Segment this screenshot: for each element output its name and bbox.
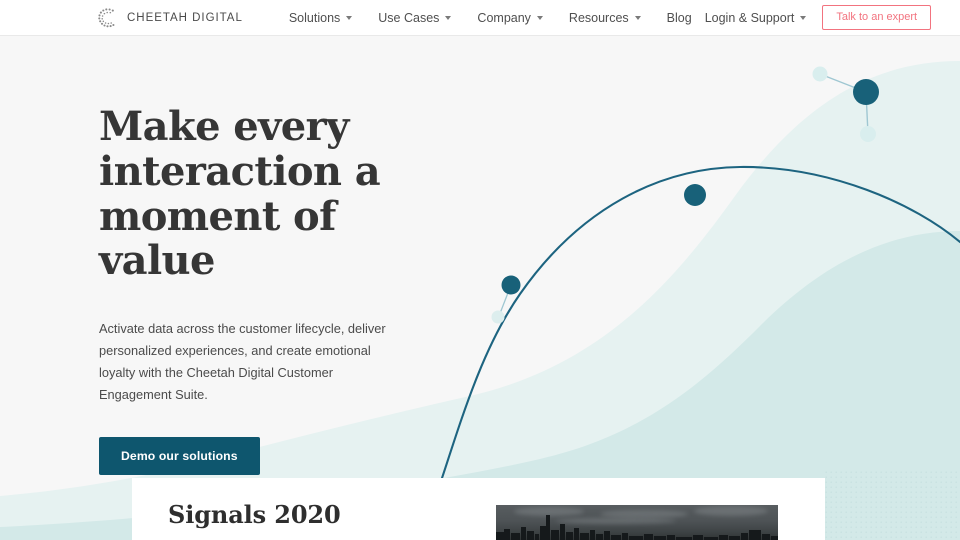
nav-label-solutions: Solutions xyxy=(289,11,340,25)
node-small-light-2 xyxy=(860,126,876,142)
chevron-down-icon xyxy=(537,16,543,20)
hero-subcopy: Activate data across the customer lifecy… xyxy=(99,318,389,406)
chevron-down-icon xyxy=(800,16,806,20)
page-root: CHEETAH DIGITAL Solutions Use Cases Comp… xyxy=(0,0,960,540)
dot-pattern-band xyxy=(822,468,960,540)
signals-card-title: Signals 2020 xyxy=(168,500,341,529)
chevron-down-icon xyxy=(445,16,451,20)
hero-section: Make every interaction a moment of value… xyxy=(99,105,519,475)
brand-name: CHEETAH DIGITAL xyxy=(127,12,243,24)
main-navigation: Solutions Use Cases Company Resources Bl… xyxy=(276,11,705,25)
chevron-down-icon xyxy=(346,16,352,20)
nav-item-login-support[interactable]: Login & Support xyxy=(705,11,807,25)
site-header: CHEETAH DIGITAL Solutions Use Cases Comp… xyxy=(0,0,960,36)
nav-label-blog: Blog xyxy=(667,11,692,25)
nav-label-use-cases: Use Cases xyxy=(378,11,439,25)
brand-logo[interactable]: CHEETAH DIGITAL xyxy=(97,7,243,29)
photo-cloud xyxy=(694,506,768,516)
city-skyline-photo xyxy=(496,505,778,540)
talk-to-an-expert-button[interactable]: Talk to an expert xyxy=(822,5,931,30)
photo-skyline xyxy=(496,524,778,540)
chevron-down-icon xyxy=(635,16,641,20)
nav-label-login-support: Login & Support xyxy=(705,11,795,25)
node-large-dark xyxy=(853,79,879,105)
demo-our-solutions-button[interactable]: Demo our solutions xyxy=(99,437,260,475)
signals-card[interactable]: Signals 2020 xyxy=(132,478,825,540)
node-on-arc xyxy=(684,184,706,206)
page-title: Make every interaction a moment of value xyxy=(99,105,459,284)
nav-item-blog[interactable]: Blog xyxy=(654,11,705,25)
header-right-actions: Login & Support Talk to an expert xyxy=(705,5,931,30)
node-small-light xyxy=(813,67,828,82)
nav-item-solutions[interactable]: Solutions xyxy=(276,11,365,25)
nav-label-resources: Resources xyxy=(569,11,629,25)
nav-item-resources[interactable]: Resources xyxy=(556,11,654,25)
nav-label-company: Company xyxy=(477,11,531,25)
cheetah-c-dot-logo-icon xyxy=(97,7,119,29)
photo-cloud xyxy=(600,510,688,518)
nav-item-use-cases[interactable]: Use Cases xyxy=(365,11,464,25)
nav-item-company[interactable]: Company xyxy=(464,11,556,25)
